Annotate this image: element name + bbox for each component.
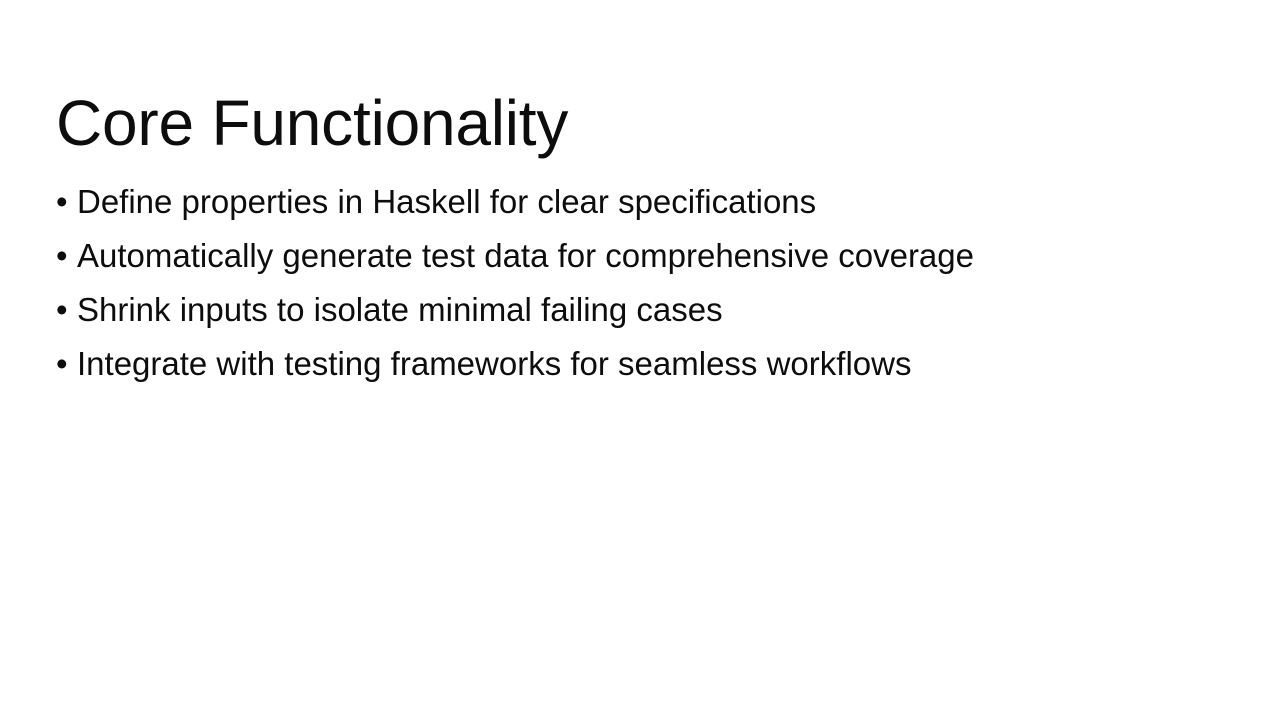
bullet-list: • Define properties in Haskell for clear… xyxy=(56,185,1226,401)
bullet-dot-icon: • xyxy=(56,293,77,327)
list-item: • Automatically generate test data for c… xyxy=(56,239,1226,293)
list-item-label: Shrink inputs to isolate minimal failing… xyxy=(77,293,723,327)
list-item-label: Define properties in Haskell for clear s… xyxy=(77,185,816,219)
list-item-label: Integrate with testing frameworks for se… xyxy=(77,347,911,381)
list-item: • Define properties in Haskell for clear… xyxy=(56,185,1226,239)
list-item: • Shrink inputs to isolate minimal faili… xyxy=(56,293,1226,347)
slide: Core Functionality • Define properties i… xyxy=(0,0,1280,720)
page-title: Core Functionality xyxy=(56,89,1226,158)
list-item: • Integrate with testing frameworks for … xyxy=(56,347,1226,401)
list-item-label: Automatically generate test data for com… xyxy=(77,239,974,273)
bullet-dot-icon: • xyxy=(56,185,77,219)
bullet-dot-icon: • xyxy=(56,347,77,381)
bullet-dot-icon: • xyxy=(56,239,77,273)
